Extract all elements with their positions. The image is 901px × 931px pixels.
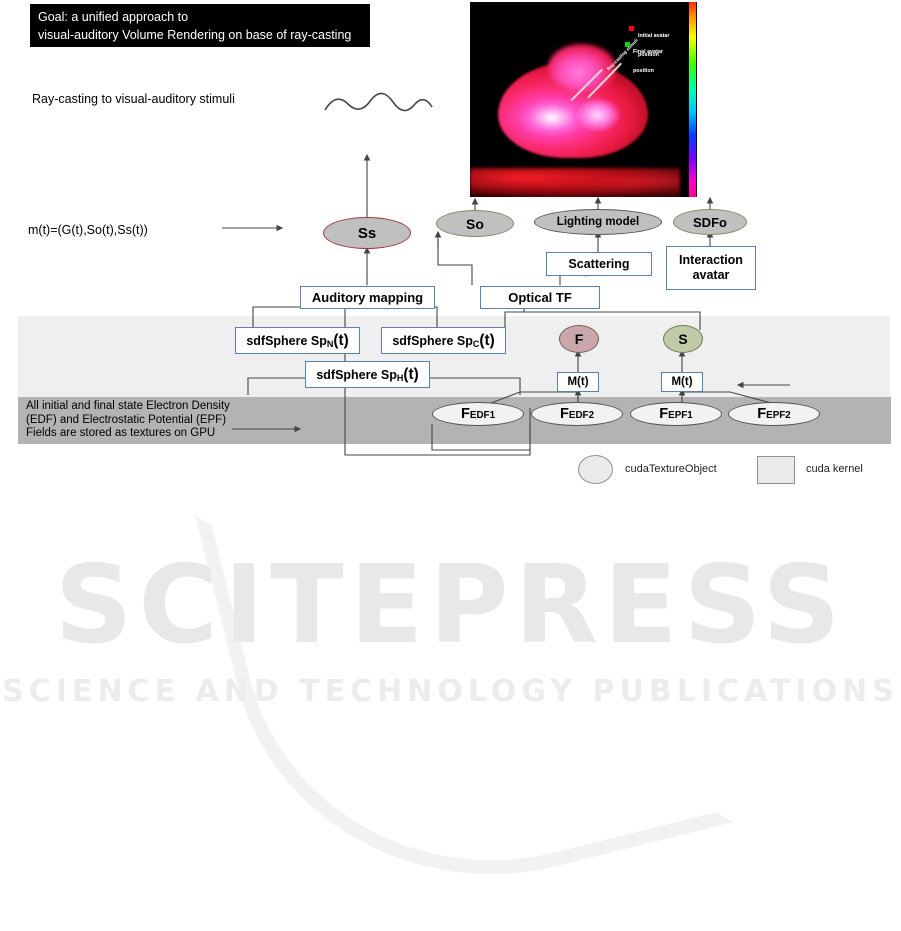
box-sdfsphere-h[interactable]: sdfSphere SpH(t) bbox=[305, 361, 430, 388]
box-scattering[interactable]: Scattering bbox=[546, 252, 652, 276]
goal-line-2: visual-auditory Volume Rendering on base… bbox=[38, 26, 362, 44]
box-mt-left-label: M(t) bbox=[567, 376, 588, 388]
box-mt-right[interactable]: M(t) bbox=[661, 372, 703, 392]
floor-glow bbox=[470, 168, 680, 197]
gpu-note-line-1: All initial and final state Electron Den… bbox=[26, 400, 230, 414]
node-fedf1-label: FEDF1 bbox=[461, 406, 495, 422]
node-so-label: So bbox=[466, 216, 484, 232]
audio-wave-icon bbox=[325, 93, 432, 110]
node-fepf1-label: FEPF1 bbox=[659, 406, 693, 422]
node-s[interactable]: S bbox=[663, 325, 703, 353]
box-sdfsphere-h-label: sdfSphere SpH(t) bbox=[316, 366, 418, 383]
color-scale-bar bbox=[689, 2, 696, 197]
final-avatar-legend: Final avatar position bbox=[633, 37, 663, 87]
box-sdfsphere-n[interactable]: sdfSphere SpN(t) bbox=[235, 327, 360, 354]
watermark-main-text: SCITEPRESS bbox=[55, 552, 846, 660]
raycasting-label: Ray-casting to visual-auditory stimuli bbox=[32, 91, 235, 107]
node-f[interactable]: F bbox=[559, 325, 599, 353]
scitepress-watermark: SCITEPRESS SCIENCE AND TECHNOLOGY PUBLIC… bbox=[0, 530, 901, 730]
box-mt-left[interactable]: M(t) bbox=[557, 372, 599, 392]
node-lighting-model-label: Lighting model bbox=[557, 216, 639, 228]
box-scattering-label: Scattering bbox=[568, 257, 629, 271]
box-auditory-mapping-label: Auditory mapping bbox=[312, 290, 423, 305]
box-interaction-avatar[interactable]: Interaction avatar bbox=[666, 246, 756, 290]
box-interaction-avatar-line2: avatar bbox=[693, 268, 730, 283]
final-avatar-legend-line2: position bbox=[633, 68, 663, 74]
box-optical-tf-label: Optical TF bbox=[508, 290, 572, 305]
watermark-sub-text: SCIENCE AND TECHNOLOGY PUBLICATIONS bbox=[2, 674, 899, 709]
node-so[interactable]: So bbox=[436, 210, 514, 237]
node-lighting-model[interactable]: Lighting model bbox=[534, 209, 662, 235]
node-fedf1[interactable]: FEDF1 bbox=[432, 402, 524, 426]
legend-cuda-kernel-icon bbox=[757, 456, 795, 484]
box-auditory-mapping[interactable]: Auditory mapping bbox=[300, 286, 435, 309]
box-sdfsphere-c-label: sdfSphere SpC(t) bbox=[392, 332, 494, 349]
box-interaction-avatar-line1: Interaction bbox=[679, 253, 743, 268]
final-avatar-legend-line1: Final avatar bbox=[633, 49, 663, 55]
gpu-storage-note: All initial and final state Electron Den… bbox=[26, 400, 230, 441]
molecule-core bbox=[574, 98, 620, 132]
node-fepf2[interactable]: FEPF2 bbox=[728, 402, 820, 426]
node-fepf1[interactable]: FEPF1 bbox=[630, 402, 722, 426]
node-f-label: F bbox=[575, 331, 584, 347]
final-avatar-dot bbox=[625, 42, 630, 47]
node-ss[interactable]: Ss bbox=[323, 217, 411, 249]
mt-formula-label: m(t)=(G(t),So(t),Ss(t)) bbox=[28, 222, 148, 238]
goal-line-1: Goal: a unified approach to bbox=[38, 8, 362, 26]
gpu-note-line-2: (EDF) and Electrostatic Potential (EPF) bbox=[26, 414, 230, 428]
legend-cuda-kernel-label: cuda kernel bbox=[806, 463, 863, 475]
node-ss-label: Ss bbox=[358, 225, 376, 242]
node-sdfo[interactable]: SDFo bbox=[673, 209, 747, 235]
node-fepf2-label: FEPF2 bbox=[757, 406, 791, 422]
box-sdfsphere-n-label: sdfSphere SpN(t) bbox=[246, 332, 348, 349]
goal-banner: Goal: a unified approach to visual-audit… bbox=[30, 4, 370, 47]
gpu-note-line-3: Fields are stored as textures on GPU bbox=[26, 427, 230, 441]
initial-avatar-dot bbox=[629, 26, 634, 31]
box-sdfsphere-c[interactable]: sdfSphere SpC(t) bbox=[381, 327, 506, 354]
box-mt-right-label: M(t) bbox=[671, 376, 692, 388]
node-sdfo-label: SDFo bbox=[693, 215, 727, 230]
box-optical-tf[interactable]: Optical TF bbox=[480, 286, 600, 309]
node-s-label: S bbox=[678, 331, 687, 347]
volume-render-image: Ray-casting stimuli Initial avatar posit… bbox=[470, 2, 697, 197]
